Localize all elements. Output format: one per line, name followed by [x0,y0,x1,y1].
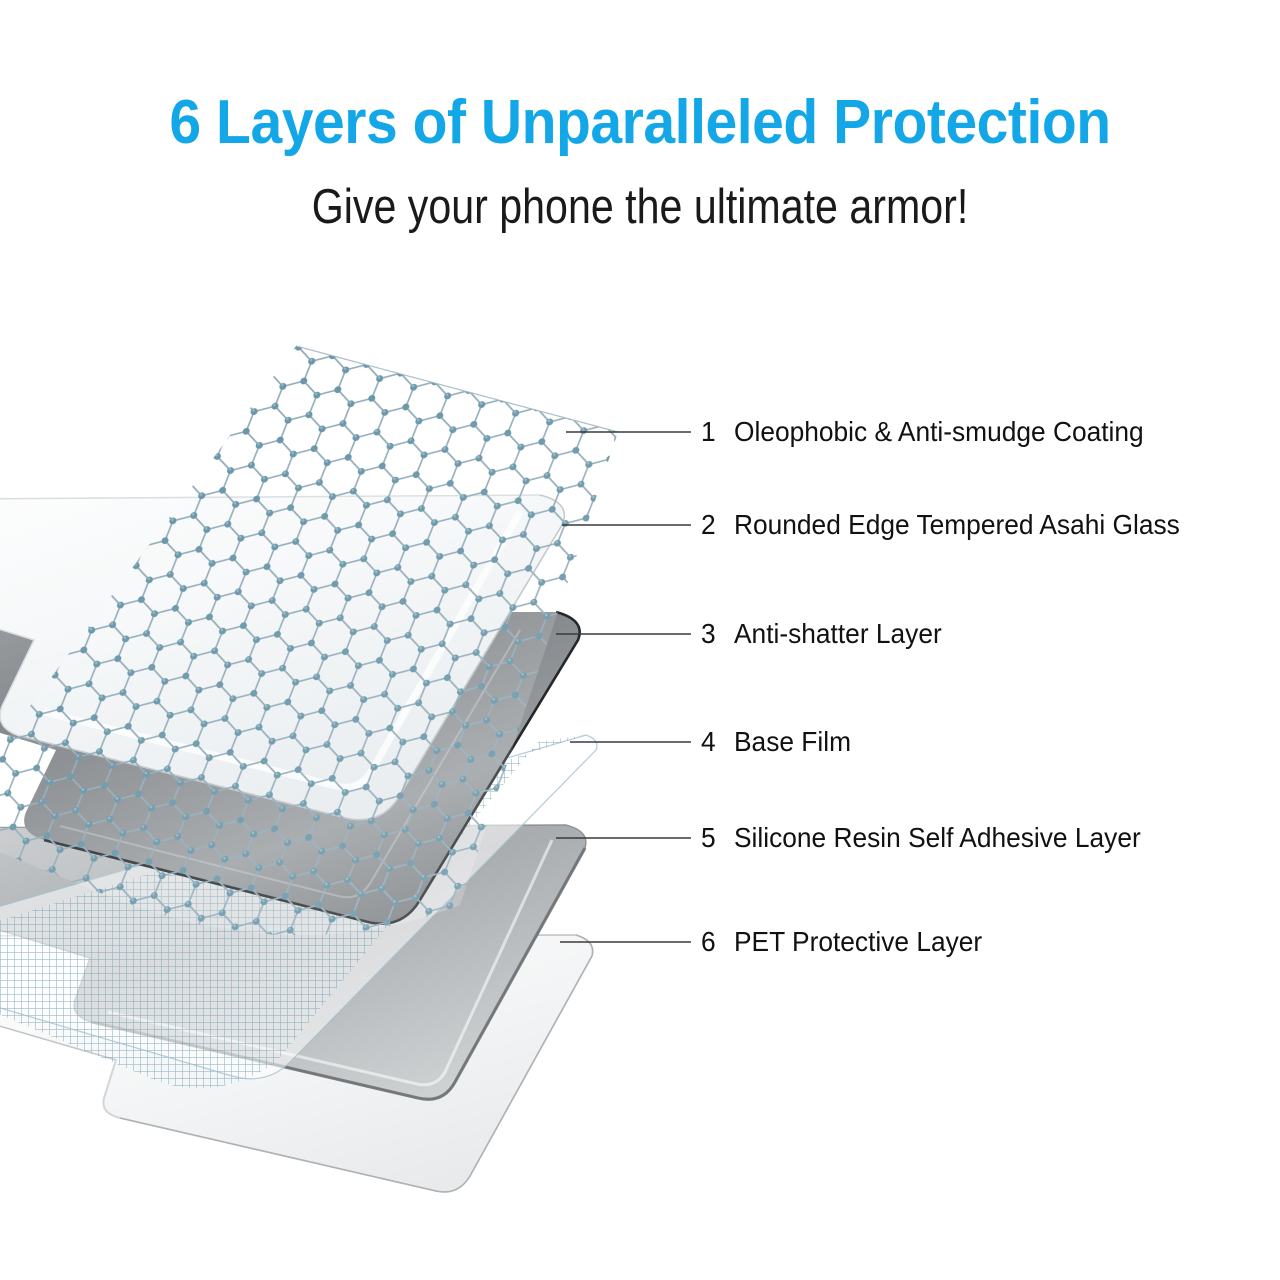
callout-2: 2 Rounded Edge Tempered Asahi Glass [701,508,1208,542]
callout-6: 6 PET Protective Layer [701,925,998,959]
callout-4-number: 4 [701,726,729,758]
layer-stack-diagram [0,0,1280,1280]
callout-2-number: 2 [701,509,729,541]
layer-stack-svg [0,0,1280,1280]
callout-3-label: Anti-shatter Layer [734,618,942,650]
callout-3-number: 3 [701,618,729,650]
callout-1-number: 1 [701,416,729,448]
callout-1: 1 Oleophobic & Anti-smudge Coating [701,415,1170,449]
callout-5-number: 5 [701,822,729,854]
callout-5: 5 Silicone Resin Self Adhesive Layer [701,821,1167,855]
callout-6-number: 6 [701,926,729,958]
callout-4: 4 Base Film [701,725,858,759]
callout-1-label: Oleophobic & Anti-smudge Coating [734,416,1144,448]
callout-6-label: PET Protective Layer [734,926,982,958]
infographic-page: 6 Layers of Unparalleled Protection Give… [0,0,1280,1280]
callout-2-label: Rounded Edge Tempered Asahi Glass [734,509,1180,541]
callout-5-label: Silicone Resin Self Adhesive Layer [734,822,1141,854]
callout-4-label: Base Film [734,726,851,758]
callout-3: 3 Anti-shatter Layer [701,617,955,651]
